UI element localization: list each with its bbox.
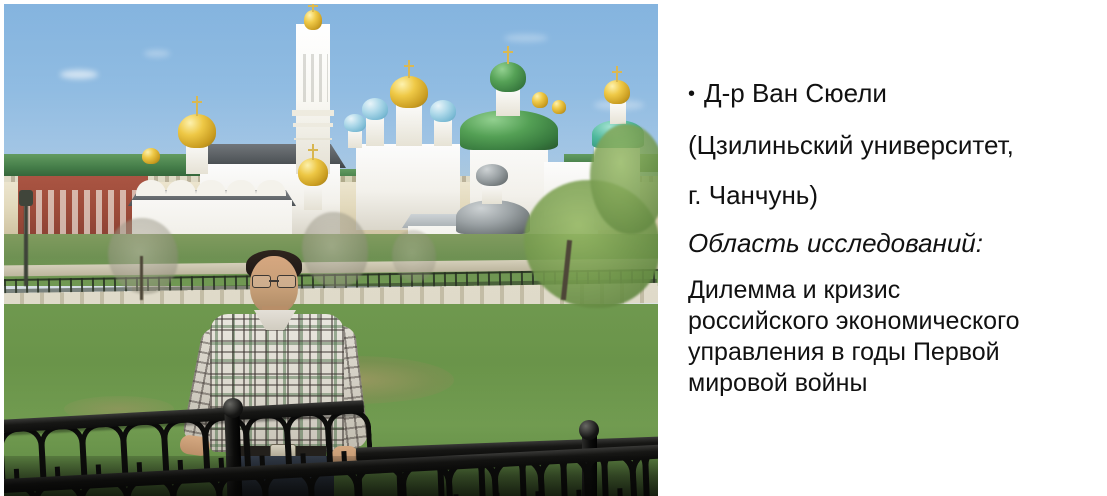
blue-dome	[344, 114, 366, 132]
person-name-text: Д-р Ван Сюели	[704, 78, 887, 108]
bullet-icon: •	[688, 83, 704, 106]
golden-dome	[532, 92, 548, 108]
photo-canvas	[4, 4, 658, 496]
church-gable-arches	[136, 180, 286, 196]
cloud	[144, 50, 170, 57]
research-topic-line-2: российского экономического	[688, 307, 1020, 336]
grey-dome	[476, 164, 508, 186]
golden-dome	[390, 76, 428, 108]
grey-dome	[456, 200, 530, 234]
cloud	[504, 34, 548, 42]
orthodox-cross-icon	[507, 46, 509, 64]
lamp-post	[24, 200, 28, 286]
golden-dome	[304, 10, 322, 30]
fence-post-finial	[223, 398, 243, 418]
text-panel: •Д-р Ван Сюели (Цзилиньский университет,…	[676, 0, 1107, 496]
orthodox-cross-icon	[616, 66, 618, 82]
golden-dome	[178, 114, 216, 148]
lamp-head	[19, 190, 33, 206]
slide-root: •Д-р Ван Сюели (Цзилиньский университет,…	[0, 0, 1107, 496]
research-topic-line-3: управления в годы Первой	[688, 338, 1000, 367]
research-area-label: Область исследований:	[688, 228, 983, 259]
photo-monastery-with-man	[4, 4, 658, 496]
eyeglasses	[252, 275, 296, 286]
orthodox-cross-icon	[312, 4, 314, 12]
affiliation-line-2: г. Чанчунь)	[688, 180, 818, 211]
bare-tree	[108, 218, 178, 294]
blue-dome	[362, 98, 388, 120]
affiliation-line-1: (Цзилиньский университет,	[688, 130, 1014, 161]
bare-tree	[392, 230, 436, 282]
blue-dome	[430, 100, 456, 122]
golden-dome	[604, 80, 630, 104]
golden-dome	[552, 100, 566, 114]
orthodox-cross-icon	[196, 96, 198, 116]
research-topic-line-4: мировой войны	[688, 369, 867, 398]
fence-post-finial	[579, 420, 599, 440]
tree-trunk	[140, 256, 143, 300]
bullet-line-name: •Д-р Ван Сюели	[688, 78, 887, 109]
cloud	[60, 70, 98, 79]
orthodox-cross-icon	[408, 60, 410, 78]
orthodox-cross-icon	[312, 144, 314, 160]
fence-lower-shadow	[4, 456, 658, 496]
green-dome	[460, 110, 558, 150]
golden-dome	[142, 148, 160, 164]
research-topic-line-1: Дилемма и кризис	[688, 276, 900, 305]
golden-dome	[298, 158, 328, 186]
green-dome	[490, 62, 526, 92]
